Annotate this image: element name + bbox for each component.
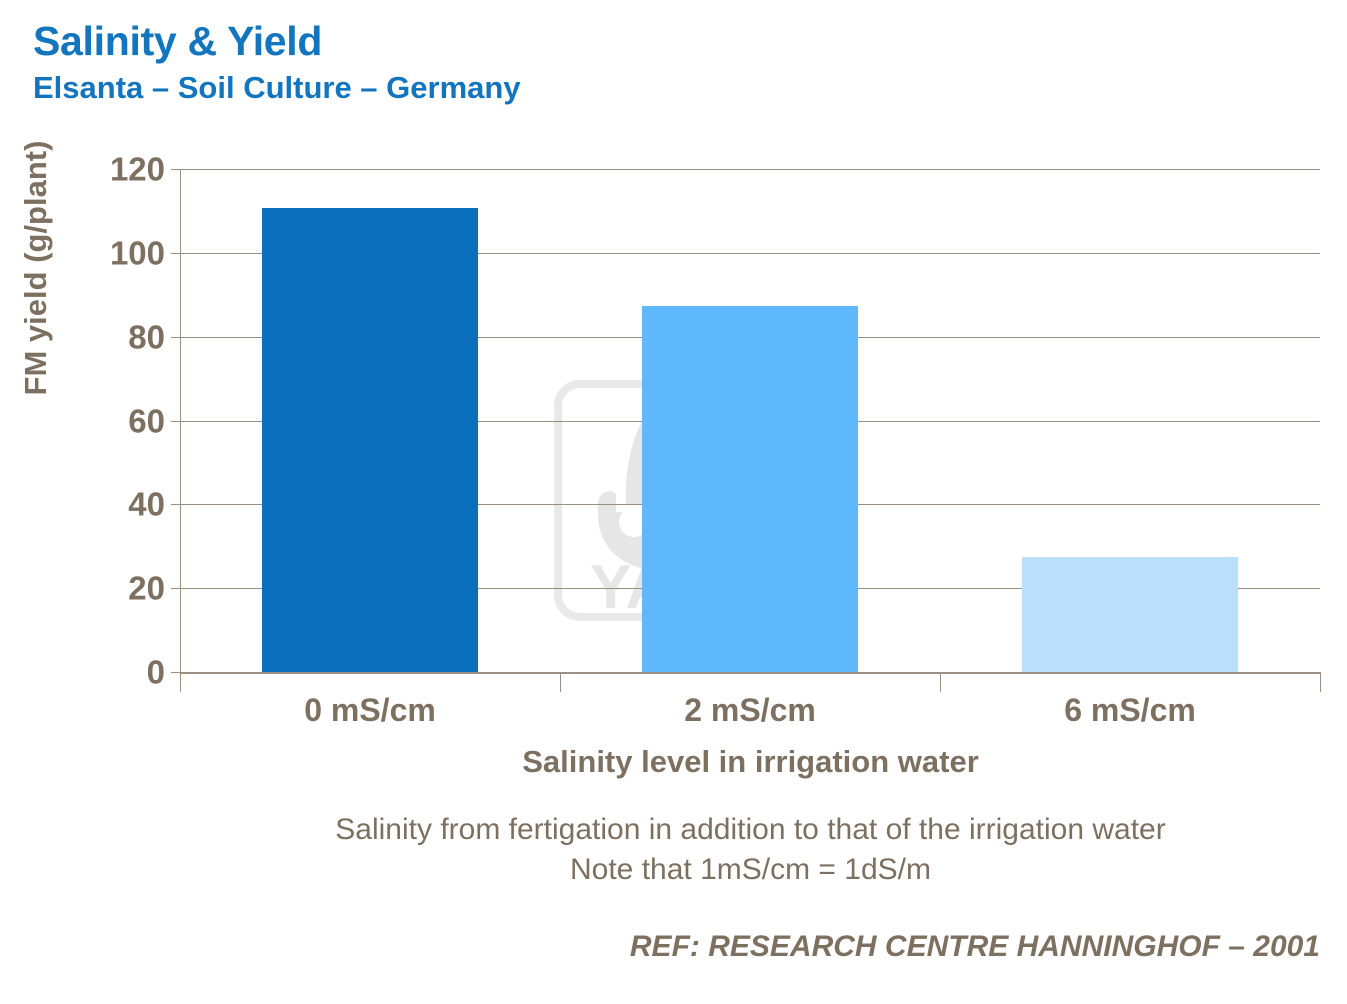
title-block: Salinity & Yield Elsanta – Soil Culture … bbox=[33, 20, 521, 105]
y-tick-label: 120 bbox=[110, 153, 165, 186]
footnote: Salinity from fertigation in addition to… bbox=[180, 810, 1321, 890]
x-tick-label: 2 mS/cm bbox=[684, 692, 816, 729]
plot-area bbox=[180, 169, 1320, 672]
bar-2-ms-cm bbox=[642, 306, 858, 672]
y-tick-label: 60 bbox=[128, 404, 165, 437]
y-tick-mark bbox=[171, 337, 180, 338]
y-tick-mark bbox=[171, 421, 180, 422]
bar-6-ms-cm bbox=[1022, 557, 1238, 672]
y-tick-label: 100 bbox=[110, 236, 165, 269]
x-axis-line bbox=[180, 672, 1321, 674]
y-tick-mark bbox=[171, 588, 180, 589]
y-tick-mark bbox=[171, 253, 180, 254]
y-tick-label: 20 bbox=[128, 572, 165, 605]
x-axis-title: Salinity level in irrigation water bbox=[180, 744, 1321, 780]
y-tick-mark bbox=[171, 169, 180, 170]
x-tick-label: 0 mS/cm bbox=[304, 692, 436, 729]
footnote-line-1: Salinity from fertigation in addition to… bbox=[180, 810, 1321, 850]
y-tick-label: 40 bbox=[128, 488, 165, 521]
reference-note: REF: RESEARCH CENTRE HANNINGHOF – 2001 bbox=[630, 930, 1320, 964]
bar-0-ms-cm bbox=[262, 208, 478, 672]
x-axis-divider bbox=[560, 672, 561, 692]
y-tick-mark bbox=[171, 672, 180, 673]
footnote-line-2: Note that 1mS/cm = 1dS/m bbox=[180, 850, 1321, 890]
y-tick-label: 0 bbox=[147, 656, 165, 689]
y-tick-mark bbox=[171, 504, 180, 505]
x-axis-divider bbox=[940, 672, 941, 692]
x-axis-end-tick bbox=[1320, 672, 1321, 692]
gridline bbox=[180, 169, 1320, 170]
page-subtitle: Elsanta – Soil Culture – Germany bbox=[33, 70, 521, 106]
x-tick-label: 6 mS/cm bbox=[1064, 692, 1196, 729]
x-axis-tick-labels: 0 mS/cm2 mS/cm6 mS/cm bbox=[180, 692, 1321, 742]
x-axis-start-tick bbox=[180, 672, 181, 692]
y-axis-tick-labels: 020406080100120 bbox=[0, 169, 165, 672]
page-title: Salinity & Yield bbox=[33, 20, 521, 63]
y-tick-label: 80 bbox=[128, 320, 165, 353]
